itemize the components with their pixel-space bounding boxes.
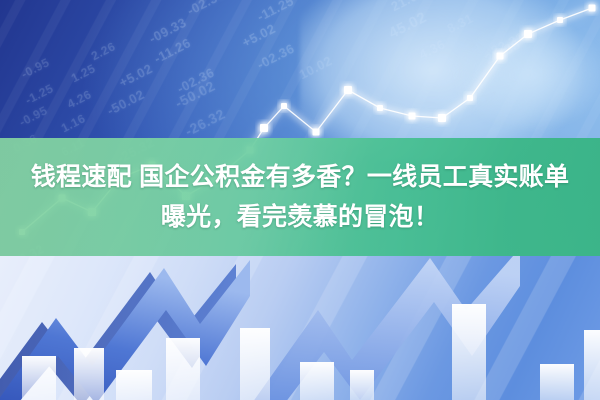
chart-node-marker	[589, 5, 596, 12]
bar	[540, 364, 574, 400]
chart-node-marker	[524, 30, 532, 38]
chart-node-marker	[377, 105, 383, 111]
headline-line-1: 钱程速配 国企公积金有多香？一线员工真实账单	[31, 159, 570, 195]
chart-node-marker	[497, 53, 504, 60]
bar	[116, 370, 152, 400]
chart-node-marker	[281, 103, 287, 109]
bar	[452, 304, 486, 400]
chart-node-marker	[557, 17, 563, 23]
bar	[74, 348, 104, 400]
chart-node-marker	[260, 124, 268, 132]
bar	[584, 330, 600, 400]
lower-graphics	[0, 256, 600, 400]
chart-node-marker	[438, 114, 446, 122]
headline-block: 钱程速配 国企公积金有多香？一线员工真实账单 曝光，看完羡慕的冒泡！	[0, 138, 600, 256]
bar	[240, 328, 270, 400]
lower-foreground-panel	[0, 256, 600, 400]
bar	[300, 362, 334, 400]
headline-line-2: 曝光，看完羡慕的冒泡！	[161, 199, 439, 235]
chart-node-marker	[344, 86, 352, 94]
bar	[166, 338, 200, 400]
banner-image: -02.36-11.2521.02-09.33+5.0245.022.26-11…	[0, 0, 600, 400]
chart-node-marker	[313, 129, 320, 136]
bar	[22, 356, 56, 400]
bar	[350, 370, 374, 400]
chart-node-marker	[467, 95, 473, 101]
chart-node-marker	[409, 113, 416, 120]
